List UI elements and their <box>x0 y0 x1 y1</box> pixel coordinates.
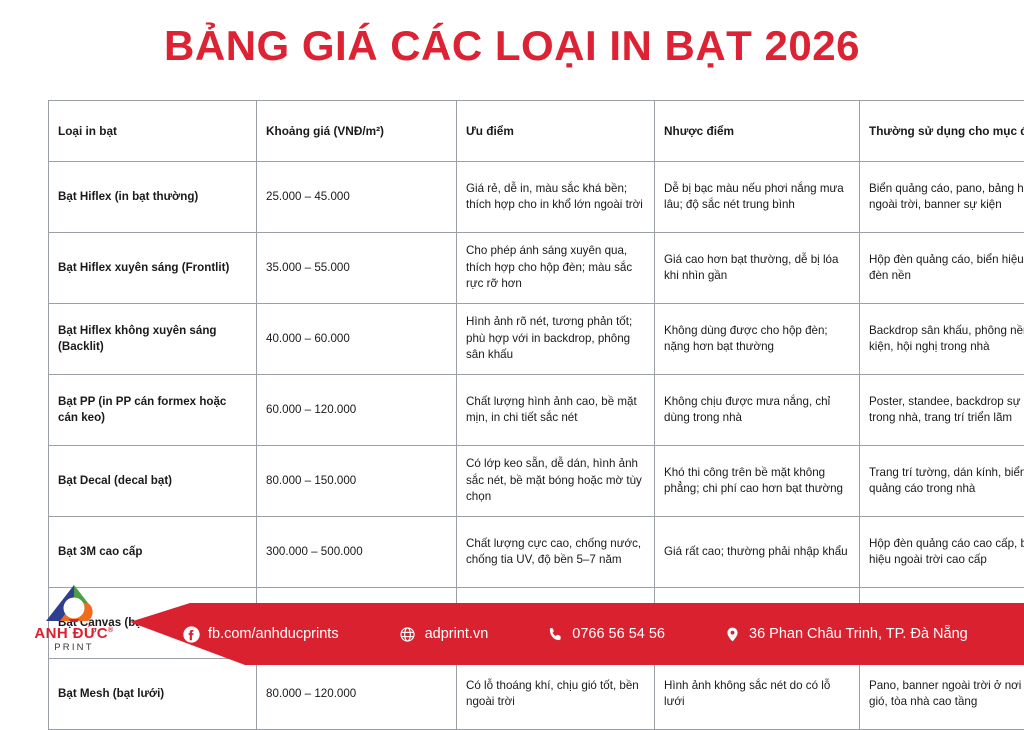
footer-address-label: 36 Phan Châu Trinh, TP. Đà Nẵng <box>749 626 968 642</box>
footer: fb.com/anhducprints adprint.vn 0766 56 5… <box>0 595 1024 665</box>
column-header-cons: Nhược điểm <box>655 101 860 162</box>
cell-price: 35.000 – 55.000 <box>257 233 457 304</box>
globe-icon <box>399 625 417 643</box>
cell-type: Bạt Hiflex (in bạt thường) <box>49 162 257 233</box>
footer-phone[interactable]: 0766 56 54 56 <box>546 625 665 643</box>
table-row: Bạt Hiflex (in bạt thường) 25.000 – 45.0… <box>49 162 1024 233</box>
table-row: Bạt 3M cao cấp 300.000 – 500.000 Chất lư… <box>49 517 1024 588</box>
cell-price: 80.000 – 120.000 <box>257 659 457 730</box>
cell-type: Bạt Mesh (bạt lưới) <box>49 659 257 730</box>
footer-address[interactable]: 36 Phan Châu Trinh, TP. Đà Nẵng <box>723 625 968 643</box>
cell-type: Bạt Hiflex xuyên sáng (Frontlit) <box>49 233 257 304</box>
table-row: Bạt Hiflex không xuyên sáng (Backlit) 40… <box>49 304 1024 375</box>
column-header-type: Loại in bạt <box>49 101 257 162</box>
cell-cons: Dễ bị bạc màu nếu phơi nắng mưa lâu; độ … <box>655 162 860 233</box>
cell-pros: Chất lượng cực cao, chống nước, chống ti… <box>457 517 655 588</box>
table-row: Bạt Hiflex xuyên sáng (Frontlit) 35.000 … <box>49 233 1024 304</box>
footer-phone-label: 0766 56 54 56 <box>572 626 665 642</box>
cell-type: Bạt 3M cao cấp <box>49 517 257 588</box>
location-pin-icon <box>723 625 741 643</box>
page-title: BẢNG GIÁ CÁC LOẠI IN BẠT 2026 <box>0 22 1024 69</box>
cell-pros: Hình ảnh rõ nét, tương phản tốt; phù hợp… <box>457 304 655 375</box>
cell-pros: Cho phép ánh sáng xuyên qua, thích hợp c… <box>457 233 655 304</box>
cell-cons: Hình ảnh không sắc nét do có lỗ lưới <box>655 659 860 730</box>
column-header-pros: Ưu điểm <box>457 101 655 162</box>
cell-type: Bạt Decal (decal bạt) <box>49 446 257 517</box>
cell-pros: Có lớp keo sẵn, dễ dán, hình ảnh sắc nét… <box>457 446 655 517</box>
logo-mark-icon <box>43 583 105 625</box>
cell-usage: Pano, banner ngoài trời ở nơi nhiều gió,… <box>860 659 1024 730</box>
cell-usage: Trang trí tường, dán kính, biển quảng cá… <box>860 446 1024 517</box>
cell-pros: Giá rẻ, dễ in, màu sắc khá bền; thích hợ… <box>457 162 655 233</box>
logo-subtitle: PRINT <box>22 642 126 654</box>
cell-price: 300.000 – 500.000 <box>257 517 457 588</box>
footer-website[interactable]: adprint.vn <box>399 625 489 643</box>
column-header-usage: Thường sử dụng cho mục đích <box>860 101 1024 162</box>
footer-website-label: adprint.vn <box>425 626 489 642</box>
table-row: Bạt Mesh (bạt lưới) 80.000 – 120.000 Có … <box>49 659 1024 730</box>
footer-facebook-label: fb.com/anhducprints <box>208 626 339 642</box>
cell-cons: Không chịu được mưa nắng, chỉ dùng trong… <box>655 375 860 446</box>
cell-cons: Giá cao hơn bạt thường, dễ bị lóa khi nh… <box>655 233 860 304</box>
table-header: Loại in bạt Khoảng giá (VNĐ/m²) Ưu điểm … <box>49 101 1024 162</box>
cell-type: Bạt PP (in PP cán formex hoặc cán keo) <box>49 375 257 446</box>
registered-mark: ® <box>108 627 114 634</box>
footer-contact-list: fb.com/anhducprints adprint.vn 0766 56 5… <box>150 603 1024 665</box>
cell-usage: Hộp đèn quảng cáo cao cấp, bảng hiệu ngo… <box>860 517 1024 588</box>
cell-cons: Không dùng được cho hộp đèn; nặng hơn bạ… <box>655 304 860 375</box>
phone-icon <box>546 625 564 643</box>
table-header-row: Loại in bạt Khoảng giá (VNĐ/m²) Ưu điểm … <box>49 101 1024 162</box>
table-row: Bạt PP (in PP cán formex hoặc cán keo) 6… <box>49 375 1024 446</box>
cell-pros: Có lỗ thoáng khí, chịu gió tốt, bền ngoà… <box>457 659 655 730</box>
cell-type: Bạt Hiflex không xuyên sáng (Backlit) <box>49 304 257 375</box>
cell-price: 60.000 – 120.000 <box>257 375 457 446</box>
cell-usage: Hộp đèn quảng cáo, biển hiệu có đèn nền <box>860 233 1024 304</box>
footer-facebook[interactable]: fb.com/anhducprints <box>182 625 339 643</box>
cell-price: 40.000 – 60.000 <box>257 304 457 375</box>
column-header-price: Khoảng giá (VNĐ/m²) <box>257 101 457 162</box>
logo-name-text: ANH ĐỨC <box>34 625 108 642</box>
facebook-icon <box>182 625 200 643</box>
cell-usage: Biển quảng cáo, pano, bảng hiệu ngoài tr… <box>860 162 1024 233</box>
cell-cons: Giá rất cao; thường phải nhập khẩu <box>655 517 860 588</box>
cell-pros: Chất lượng hình ảnh cao, bề mặt mịn, in … <box>457 375 655 446</box>
cell-usage: Backdrop sân khấu, phông nền sự kiện, hộ… <box>860 304 1024 375</box>
cell-price: 80.000 – 150.000 <box>257 446 457 517</box>
logo[interactable]: ANH ĐỨC® PRINT <box>22 583 126 657</box>
logo-name: ANH ĐỨC® <box>22 626 126 642</box>
table-row: Bạt Decal (decal bạt) 80.000 – 150.000 C… <box>49 446 1024 517</box>
cell-usage: Poster, standee, backdrop sự kiện trong … <box>860 375 1024 446</box>
cell-price: 25.000 – 45.000 <box>257 162 457 233</box>
cell-cons: Khó thi công trên bề mặt không phẳng; ch… <box>655 446 860 517</box>
